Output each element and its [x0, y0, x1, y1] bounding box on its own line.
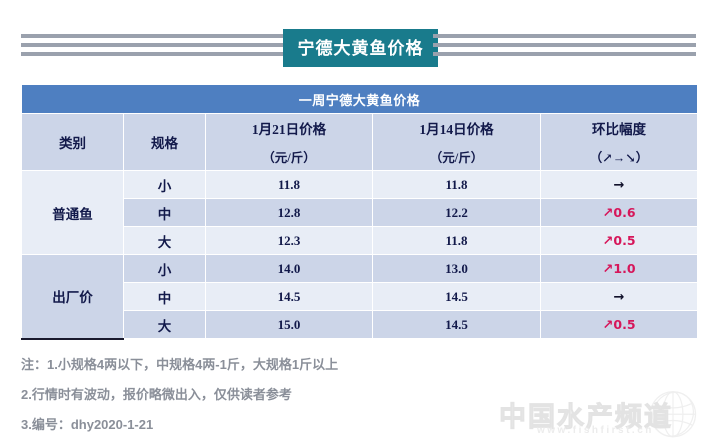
price-table-wrap: 一周宁德大黄鱼价格 类别 规格 1月21日价格 （元/斤） 1月14日价格 （元…: [21, 84, 697, 340]
col-header-price-0114: 1月14日价格 （元/斤）: [373, 114, 541, 171]
table-row: 大 15.0 14.5 ↗0.5: [22, 311, 698, 339]
cell-price-0114: 11.8: [373, 171, 541, 199]
arrow-up-icon: ↗: [602, 234, 613, 249]
table-caption-row: 一周宁德大黄鱼价格: [22, 85, 698, 114]
change-indicator: ↗1.0: [602, 261, 635, 276]
banner-rule-line: [21, 34, 284, 38]
cell-price-0114: 14.5: [373, 283, 541, 311]
cell-spec: 小: [124, 255, 206, 283]
table-caption: 一周宁德大黄鱼价格: [22, 85, 698, 114]
col-header-price-0121: 1月21日价格 （元/斤）: [206, 114, 373, 171]
cell-change: ↗0.6: [541, 199, 698, 227]
banner-rules-left: [21, 34, 284, 60]
col-header-change-legend: （↗→↘）: [590, 147, 648, 166]
col-header-change-label: 环比幅度: [592, 118, 646, 138]
change-value: 0.6: [613, 205, 635, 220]
cell-spec: 大: [124, 227, 206, 255]
table-row: 中 14.5 14.5 →: [22, 283, 698, 311]
table-row: 中 12.8 12.2 ↗0.6: [22, 199, 698, 227]
col-header-spec: 规格: [124, 114, 206, 171]
cell-price-0114: 13.0: [373, 255, 541, 283]
table-row: 出厂价 小 14.0 13.0 ↗1.0: [22, 255, 698, 283]
cell-change: ↗1.0: [541, 255, 698, 283]
arrow-up-icon: ↗: [602, 318, 613, 333]
change-value: 1.0: [613, 261, 635, 276]
table-row: 大 12.3 11.8 ↗0.5: [22, 227, 698, 255]
change-indicator: ↗0.5: [602, 317, 635, 332]
row-group-category-1: 出厂价: [22, 255, 124, 339]
change-indicator: ↗0.6: [602, 205, 635, 220]
cell-price-0121: 12.3: [206, 227, 373, 255]
cell-change: →: [541, 283, 698, 311]
cell-price-0121: 14.0: [206, 255, 373, 283]
cell-price-0121: 12.8: [206, 199, 373, 227]
page-title-box: 宁德大黄鱼价格: [283, 29, 438, 67]
change-indicator: →: [614, 290, 625, 305]
banner-rule-line: [21, 52, 284, 56]
change-value: 0.5: [613, 317, 635, 332]
banner-rules-right: [433, 34, 696, 60]
col-header-price-0121-unit: （元/斤）: [262, 147, 315, 166]
arrow-flat-icon: →: [614, 178, 625, 193]
cell-price-0114: 12.2: [373, 199, 541, 227]
banner-rule-line: [433, 43, 696, 47]
cell-change: ↗0.5: [541, 227, 698, 255]
col-header-change: 环比幅度 （↗→↘）: [541, 114, 698, 171]
banner-rule-line: [433, 34, 696, 38]
page-title: 宁德大黄鱼价格: [298, 40, 424, 57]
arrow-up-icon: ↗: [602, 206, 613, 221]
cell-price-0114: 14.5: [373, 311, 541, 339]
banner: 宁德大黄鱼价格: [0, 0, 717, 80]
table-header-row: 类别 规格 1月21日价格 （元/斤） 1月14日价格 （元/斤）: [22, 114, 698, 171]
arrow-flat-icon: →: [614, 290, 625, 305]
col-header-price-0121-label: 1月21日价格: [252, 118, 326, 138]
cell-price-0121: 14.5: [206, 283, 373, 311]
col-header-price-0114-unit: （元/斤）: [430, 147, 483, 166]
cell-spec: 中: [124, 283, 206, 311]
table-row: 普通鱼 小 11.8 11.8 →: [22, 171, 698, 199]
note-line-2: 2.行情时有波动，报价略微出入，仅供读者参考: [21, 380, 661, 410]
cell-spec: 小: [124, 171, 206, 199]
cell-price-0121: 15.0: [206, 311, 373, 339]
cell-change: →: [541, 171, 698, 199]
cell-spec: 大: [124, 311, 206, 339]
col-header-price-0114-label: 1月14日价格: [419, 118, 493, 138]
banner-rule-line: [21, 43, 284, 47]
col-header-category: 类别: [22, 114, 124, 171]
cell-price-0114: 11.8: [373, 227, 541, 255]
note-line-1: 注：1.小规格4两以下，中规格4两-1斤，大规格1斤以上: [21, 350, 661, 380]
price-table-body: 普通鱼 小 11.8 11.8 → 中 12.8 12.2 ↗0.6 大 12.…: [22, 171, 698, 339]
cell-price-0121: 11.8: [206, 171, 373, 199]
note-line-3: 3.编号：dhy2020-1-21: [21, 410, 661, 440]
arrow-up-icon: ↗: [602, 262, 613, 277]
price-table: 一周宁德大黄鱼价格 类别 规格 1月21日价格 （元/斤） 1月14日价格 （元…: [21, 84, 698, 340]
cell-spec: 中: [124, 199, 206, 227]
row-group-category-0: 普通鱼: [22, 171, 124, 255]
notes-block: 注：1.小规格4两以下，中规格4两-1斤，大规格1斤以上 2.行情时有波动，报价…: [21, 350, 661, 440]
banner-rule-line: [433, 52, 696, 56]
change-indicator: →: [614, 178, 625, 193]
change-value: 0.5: [613, 233, 635, 248]
change-indicator: ↗0.5: [602, 233, 635, 248]
cell-change: ↗0.5: [541, 311, 698, 339]
